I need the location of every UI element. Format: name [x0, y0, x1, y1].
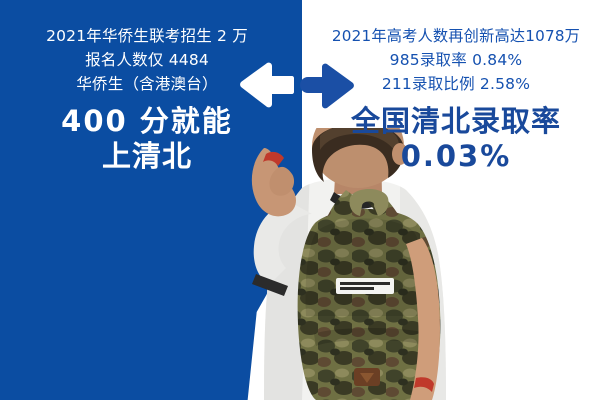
right-headline-line-2: 0.03%: [312, 139, 600, 174]
arrow-left-white: [238, 56, 294, 114]
arrow-right-blue: [298, 57, 356, 115]
poster-root: 2021年华侨生联考招生 2 万 报名人数仅 4484 华侨生（含港澳台） 40…: [0, 0, 600, 400]
left-headline: 400 分就能 上清北: [6, 104, 288, 174]
right-line-1: 2021年高考人数再创新高达1078万: [312, 24, 600, 48]
left-line-1: 2021年华侨生联考招生 2 万: [6, 24, 288, 48]
left-headline-line-2: 上清北: [6, 139, 288, 174]
